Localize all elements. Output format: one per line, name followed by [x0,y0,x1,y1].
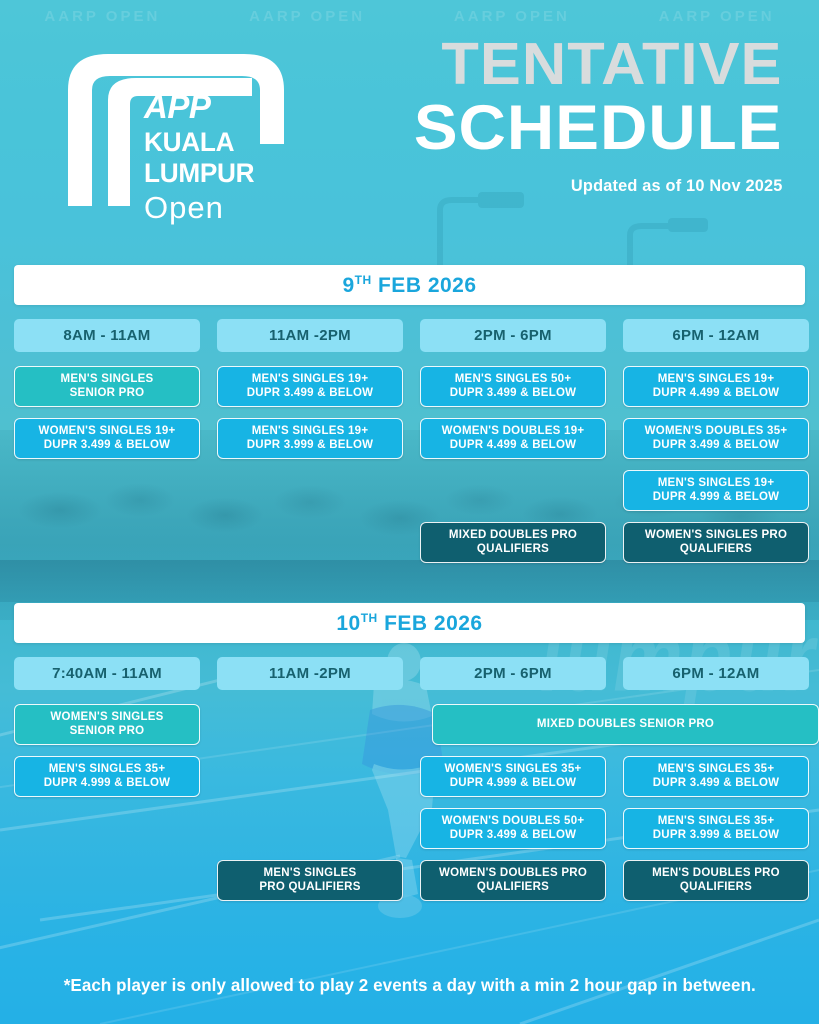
logo-app-text: APP [144,90,312,123]
empty-slot [217,756,403,797]
app-logo: APP KUALA LUMPUR Open [52,38,312,210]
time-slot-row-1: 8AM - 11AM 11AM -2PM 2PM - 6PM 6PM - 12A… [14,319,805,352]
event-card[interactable]: MEN'S SINGLESPRO QUALIFIERS [217,860,403,901]
time-slot[interactable]: 8AM - 11AM [14,319,200,352]
event-column: MEN'S SINGLESPRO QUALIFIERS [217,704,403,901]
time-slot[interactable]: 11AM -2PM [217,319,403,352]
time-slot[interactable]: 6PM - 12AM [623,657,809,690]
event-card[interactable]: WOMEN'S SINGLES 19+DUPR 3.499 & BELOW [14,418,200,459]
empty-slot [217,808,403,849]
date-ordinal-2: TH [361,611,378,625]
event-card-wide-wrapper: MIXED DOUBLES SENIOR PRO [432,704,819,745]
date-text-1: 9TH FEB 2026 [342,273,476,298]
event-column: MEN'S SINGLES 19+DUPR 4.499 & BELOWWOMEN… [623,366,809,563]
logo-wordmark: APP KUALA LUMPUR Open [144,90,312,225]
title-block: TENTATIVE SCHEDULE Updated as of 10 Nov … [428,36,783,196]
event-card[interactable]: MEN'S SINGLES 19+DUPR 4.999 & BELOW [623,470,809,511]
date-rest-2: FEB 2026 [384,612,483,635]
event-card[interactable]: MEN'S SINGLES 50+DUPR 3.499 & BELOW [420,366,606,407]
event-grid-1: MEN'S SINGLESSENIOR PROWOMEN'S SINGLES 1… [14,366,805,563]
date-bar-1: 9TH FEB 2026 [14,265,805,305]
empty-slot [217,704,403,745]
event-card[interactable]: WOMEN'S SINGLES PROQUALIFIERS [623,522,809,563]
date-ordinal-1: TH [355,273,372,287]
event-column: MEN'S SINGLES 50+DUPR 3.499 & BELOWWOMEN… [420,366,606,563]
event-card[interactable]: MEN'S SINGLES 19+DUPR 4.499 & BELOW [623,366,809,407]
time-slot[interactable]: 7:40AM - 11AM [14,657,200,690]
event-card[interactable]: MEN'S SINGLESSENIOR PRO [14,366,200,407]
logo-city-text: KUALA LUMPUR [144,127,307,189]
time-slot[interactable]: 2PM - 6PM [420,319,606,352]
event-card[interactable]: MEN'S SINGLES 35+DUPR 3.999 & BELOW [623,808,809,849]
event-column: MEN'S SINGLES 19+DUPR 3.499 & BELOWMEN'S… [217,366,403,563]
event-card[interactable]: WOMEN'S DOUBLES 35+DUPR 3.499 & BELOW [623,418,809,459]
day-section-1: 9TH FEB 2026 8AM - 11AM 11AM -2PM 2PM - … [14,265,805,563]
event-card[interactable]: WOMEN'S SINGLES 35+DUPR 4.999 & BELOW [420,756,606,797]
title-schedule: SCHEDULE [414,97,783,160]
date-day-2: 10 [336,612,360,635]
event-card[interactable]: MIXED DOUBLES SENIOR PRO [432,704,819,745]
event-grid-2: WOMEN'S SINGLESSENIOR PROMEN'S SINGLES 3… [14,704,805,901]
event-card[interactable]: MEN'S SINGLES 19+DUPR 3.499 & BELOW [217,366,403,407]
date-bar-2: 10TH FEB 2026 [14,603,805,643]
event-card[interactable]: WOMEN'S DOUBLES 19+DUPR 4.499 & BELOW [420,418,606,459]
poster-root: AARP OPEN AARP OPEN AARP OPEN AARP OPEN [0,0,819,1024]
time-slot[interactable]: 6PM - 12AM [623,319,809,352]
event-column: MEN'S SINGLESSENIOR PROWOMEN'S SINGLES 1… [14,366,200,563]
event-card[interactable]: WOMEN'S SINGLESSENIOR PRO [14,704,200,745]
date-rest-1: FEB 2026 [378,274,477,297]
event-card[interactable]: MIXED DOUBLES PROQUALIFIERS [420,522,606,563]
background-banner [0,560,819,602]
event-card[interactable]: WOMEN'S DOUBLES 50+DUPR 3.499 & BELOW [420,808,606,849]
footer: *Each player is only allowed to play 2 e… [0,975,819,996]
date-text-2: 10TH FEB 2026 [336,611,482,636]
poster-header: APP KUALA LUMPUR Open TENTATIVE SCHEDULE… [0,0,819,230]
event-column: WOMEN'S SINGLESSENIOR PROMEN'S SINGLES 3… [14,704,200,901]
time-slot[interactable]: 2PM - 6PM [420,657,606,690]
logo-open-text: Open [144,191,312,225]
time-slot-row-2: 7:40AM - 11AM 11AM -2PM 2PM - 6PM 6PM - … [14,657,805,690]
time-slot[interactable]: 11AM -2PM [217,657,403,690]
event-card[interactable]: MEN'S DOUBLES PROQUALIFIERS [623,860,809,901]
empty-slot [420,470,606,511]
event-card[interactable]: MEN'S SINGLES 35+DUPR 4.999 & BELOW [14,756,200,797]
updated-text: Updated as of 10 Nov 2025 [443,176,783,196]
event-card[interactable]: MEN'S SINGLES 19+DUPR 3.999 & BELOW [217,418,403,459]
date-day-1: 9 [342,274,354,297]
title-tentative: TENTATIVE [414,36,783,93]
event-card[interactable]: WOMEN'S DOUBLES PROQUALIFIERS [420,860,606,901]
day-section-2: 10TH FEB 2026 7:40AM - 11AM 11AM -2PM 2P… [14,603,805,901]
footer-note: *Each player is only allowed to play 2 e… [63,975,755,996]
event-card[interactable]: MEN'S SINGLES 35+DUPR 3.499 & BELOW [623,756,809,797]
